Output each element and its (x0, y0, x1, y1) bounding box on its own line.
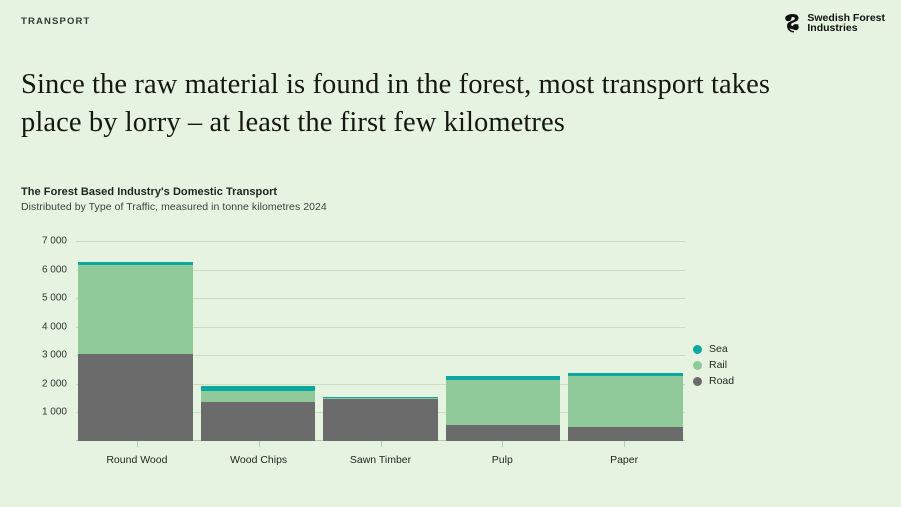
brand-wordmark-line2: Industries (807, 23, 885, 34)
y-axis-tick-label: 1 000 (23, 407, 67, 418)
x-axis-category-label: Pulp (492, 454, 513, 466)
chart-title: The Forest Based Industry's Domestic Tra… (21, 186, 881, 198)
bar-segment-road[interactable] (446, 425, 561, 441)
y-axis-tick-label: 7 000 (23, 236, 67, 247)
page-title: Since the raw material is found in the f… (21, 66, 811, 142)
bar-segment-rail[interactable] (568, 376, 683, 428)
section-eyebrow: TRANSPORT (21, 16, 90, 27)
legend-label: Rail (709, 359, 727, 371)
x-axis-tick-mark (624, 441, 625, 447)
legend-label: Road (709, 375, 734, 387)
bar-segment-rail[interactable] (201, 391, 316, 402)
brand-wordmark: Swedish Forest Industries (807, 13, 885, 34)
swedish-forest-industries-mark-icon (782, 12, 802, 34)
bar-segment-rail[interactable] (446, 380, 561, 425)
chart-bars (76, 241, 685, 441)
x-axis-tick-mark (502, 441, 503, 447)
bar-column[interactable] (78, 241, 193, 441)
chart-legend: SeaRailRoad (693, 342, 734, 388)
y-axis: 1 0002 0003 0004 0005 0006 0007 000 (21, 241, 67, 441)
legend-item[interactable]: Sea (693, 342, 734, 356)
legend-swatch-icon (693, 345, 702, 354)
y-axis-tick-label: 3 000 (23, 350, 67, 361)
legend-item[interactable]: Road (693, 374, 734, 388)
x-axis-tick-mark (259, 441, 260, 447)
bar-segment-road[interactable] (201, 402, 316, 441)
chart-block: The Forest Based Industry's Domestic Tra… (21, 186, 881, 466)
chart-plot-area: 1 0002 0003 0004 0005 0006 0007 000 Roun… (21, 241, 881, 466)
legend-item[interactable]: Rail (693, 358, 734, 372)
bar-segment-road[interactable] (78, 354, 193, 441)
x-axis-category-label: Round Wood (106, 454, 167, 466)
chart-subtitle: Distributed by Type of Traffic, measured… (21, 201, 881, 213)
y-axis-tick-label: 5 000 (23, 293, 67, 304)
bar-segment-rail[interactable] (78, 265, 193, 354)
bar-column[interactable] (323, 241, 438, 441)
legend-swatch-icon (693, 377, 702, 386)
y-axis-tick-label: 2 000 (23, 378, 67, 389)
x-axis-category-label: Sawn Timber (350, 454, 411, 466)
bar-column[interactable] (201, 241, 316, 441)
x-axis-tick-mark (137, 441, 138, 447)
bar-column[interactable] (446, 241, 561, 441)
x-axis-category-label: Wood Chips (230, 454, 287, 466)
bar-segment-road[interactable] (323, 399, 438, 441)
bar-segment-road[interactable] (568, 427, 683, 441)
bar-column[interactable] (568, 241, 683, 441)
y-axis-tick-label: 4 000 (23, 321, 67, 332)
x-axis-tick-mark (381, 441, 382, 447)
y-axis-tick-label: 6 000 (23, 264, 67, 275)
legend-label: Sea (709, 343, 728, 355)
x-axis-category-labels: Round WoodWood ChipsSawn TimberPulpPaper (76, 441, 685, 467)
brand-logo: Swedish Forest Industries (782, 12, 885, 34)
x-axis-category-label: Paper (610, 454, 638, 466)
legend-swatch-icon (693, 361, 702, 370)
